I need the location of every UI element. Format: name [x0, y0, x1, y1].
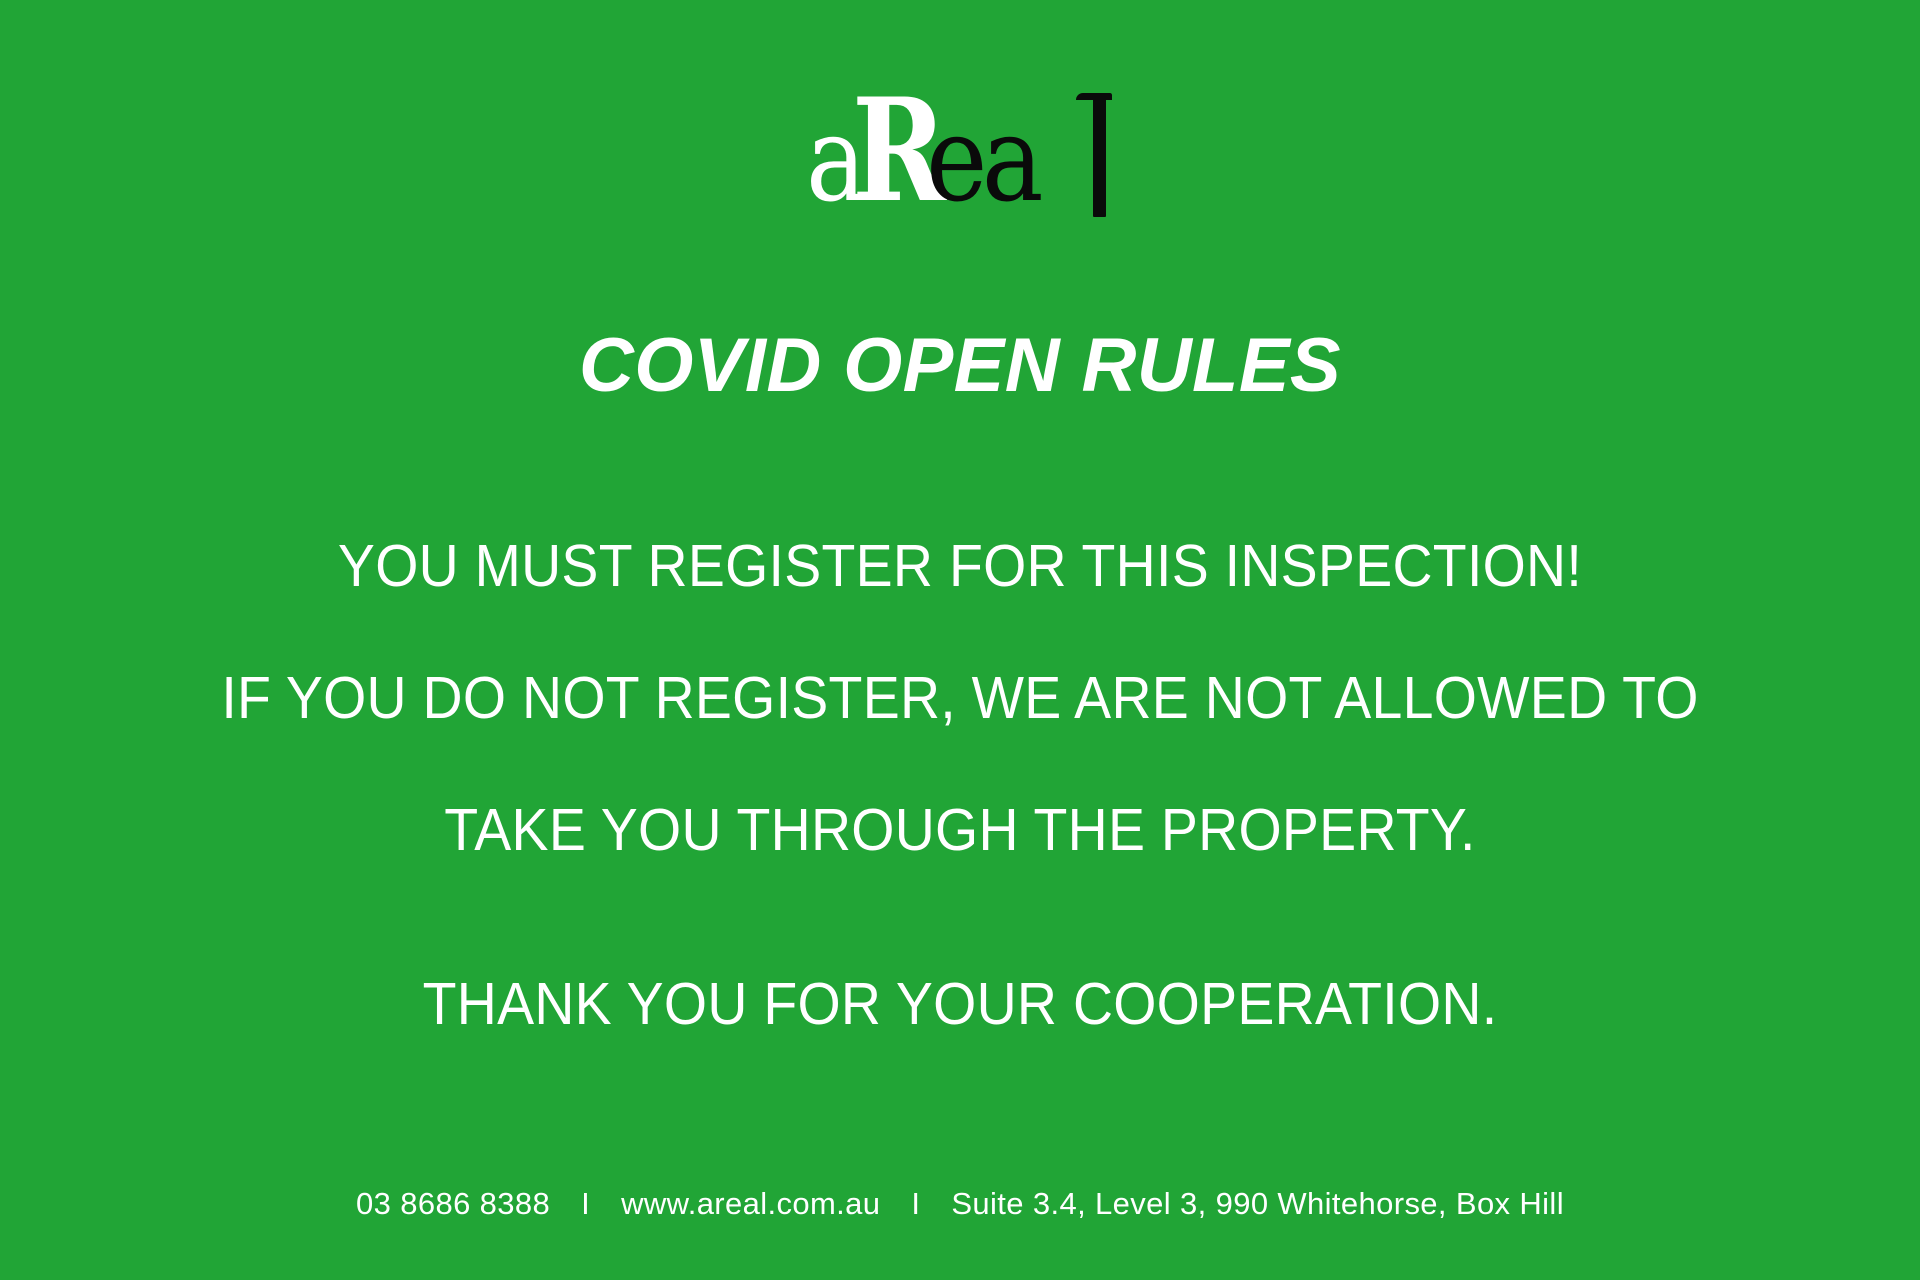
notice-line-1: YOU MUST REGISTER FOR THIS INSPECTION! [58, 500, 1863, 632]
logo-wordmark: a R ea [800, 78, 1120, 218]
notice-line-4: THANK YOU FOR YOUR COOPERATION. [58, 938, 1863, 1070]
logo-letter-l-serif-icon [1076, 93, 1112, 100]
page-title: COVID OPEN RULES [0, 328, 1920, 404]
notice-line-2: IF YOU DO NOT REGISTER, WE ARE NOT ALLOW… [58, 632, 1863, 764]
brand-logo: a R ea [0, 78, 1920, 218]
contact-footer: 03 8686 8388 I www.areal.com.au I Suite … [0, 1186, 1920, 1222]
footer-divider-1: I [559, 1186, 612, 1222]
notice-body: YOU MUST REGISTER FOR THIS INSPECTION! I… [0, 500, 1920, 1070]
footer-divider-2: I [889, 1186, 942, 1222]
notice-line-3: TAKE YOU THROUGH THE PROPERTY. [58, 764, 1863, 896]
footer-website-link[interactable]: www.areal.com.au [621, 1186, 880, 1221]
logo-letters-ea-icon: ea [926, 100, 1038, 218]
footer-phone[interactable]: 03 8686 8388 [356, 1186, 550, 1221]
poster-canvas: a R ea COVID OPEN RULES YOU MUST REGISTE… [0, 0, 1920, 1280]
footer-address: Suite 3.4, Level 3, 990 Whitehorse, Box … [951, 1186, 1564, 1221]
logo-letter-l-stem-icon [1093, 93, 1106, 217]
